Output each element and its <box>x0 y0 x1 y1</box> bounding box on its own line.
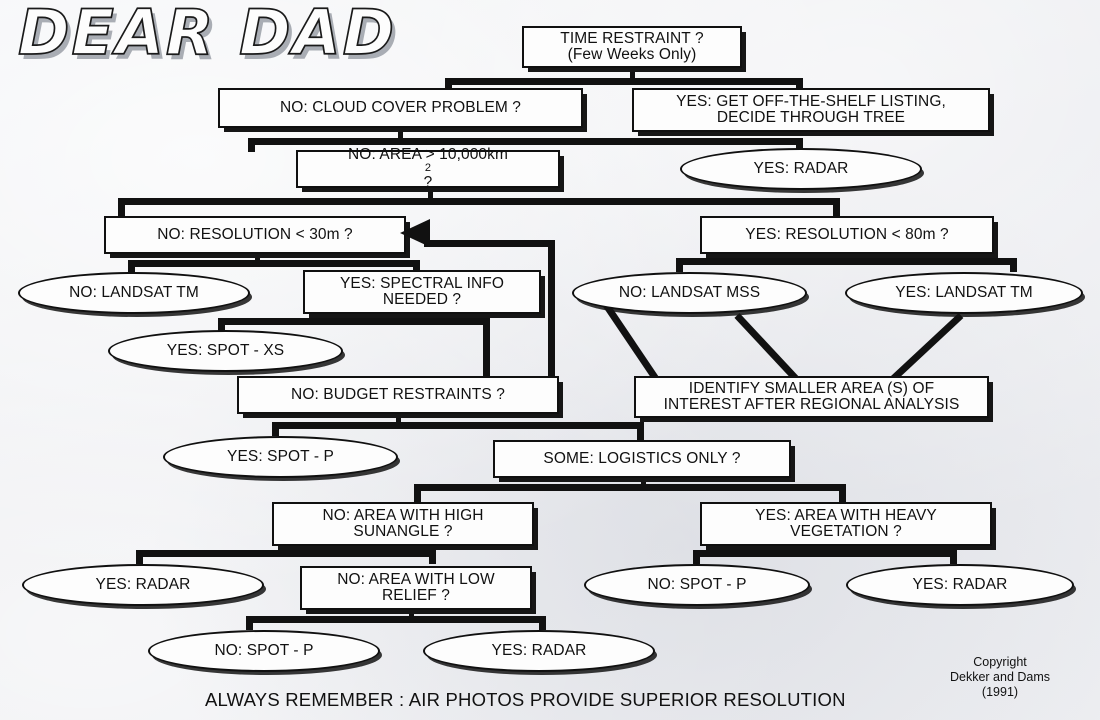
node-cloud-cover-label: NO: CLOUD COVER PROBLEM ? <box>274 100 527 116</box>
connector-rail <box>128 260 420 267</box>
connector-drop-right <box>637 422 644 440</box>
connector-rail <box>445 78 803 85</box>
node-budget-restraints[interactable]: NO: BUDGET RESTRAINTS ? <box>237 376 559 414</box>
node-heavy-vegetation-line1: YES: AREA WITH HEAVY <box>749 508 943 524</box>
node-time-restraint-line2: (Few Weeks Only) <box>554 47 709 63</box>
node-yes-landsat-tm-right-label: YES: LANDSAT TM <box>889 285 1039 301</box>
node-yes-radar-sunangle-label: YES: RADAR <box>90 577 197 593</box>
node-time-restraint[interactable]: TIME RESTRAINT ? (Few Weeks Only) <box>522 26 742 68</box>
node-no-spot-p-relief[interactable]: NO: SPOT - P <box>148 630 380 672</box>
connector-drop-left <box>248 138 255 152</box>
connector-drop-left <box>136 550 143 564</box>
node-heavy-vegetation-line2: VEGETATION ? <box>749 524 943 540</box>
copyright-line-3: (1991) <box>940 685 1060 700</box>
connector-rail <box>136 550 436 557</box>
node-yes-radar-area[interactable]: YES: RADAR <box>680 148 922 190</box>
connector-drop-right <box>429 550 436 564</box>
feedback-arrow-icon <box>400 218 434 248</box>
node-spectral-info-needed[interactable]: YES: SPECTRAL INFO NEEDED ? <box>303 270 541 314</box>
connector-drop-left <box>693 550 700 564</box>
node-resolution-30m-label: NO: RESOLUTION < 30m ? <box>151 227 359 243</box>
connector-drop-right <box>950 550 957 564</box>
node-area-label: NO: AREA > 10,000km2? <box>336 147 520 192</box>
node-no-landsat-mss[interactable]: NO: LANDSAT MSS <box>572 272 807 314</box>
node-area-heavy-vegetation[interactable]: YES: AREA WITH HEAVY VEGETATION ? <box>700 502 992 546</box>
connector-drop-right <box>483 318 490 376</box>
node-logistics-only[interactable]: SOME: LOGISTICS ONLY ? <box>493 440 791 478</box>
node-high-sunangle-line2: SUNANGLE ? <box>316 524 489 540</box>
connector-drop-left <box>272 422 279 436</box>
node-no-landsat-tm-left-label: NO: LANDSAT TM <box>63 285 205 301</box>
connector-drop-right <box>833 198 840 216</box>
connector-rail <box>693 550 957 557</box>
connector-feedback-horizontal <box>424 240 555 247</box>
node-identify-smaller-area[interactable]: IDENTIFY SMALLER AREA (S) OF INTEREST AF… <box>634 376 989 418</box>
node-off-the-shelf-listing[interactable]: YES: GET OFF-THE-SHELF LISTING, DECIDE T… <box>632 88 990 132</box>
node-yes-landsat-tm-right[interactable]: YES: LANDSAT TM <box>845 272 1083 314</box>
node-no-spot-p-vegetation-label: NO: SPOT - P <box>641 577 752 593</box>
connector-rail <box>248 138 803 145</box>
node-identify-line2: INTEREST AFTER REGIONAL ANALYSIS <box>658 397 966 413</box>
node-low-relief-line1: NO: AREA WITH LOW <box>331 572 501 588</box>
connector-rail <box>676 258 1017 265</box>
connector-rail <box>246 616 546 623</box>
node-time-restraint-line1: TIME RESTRAINT ? <box>554 31 709 47</box>
node-budget-restraints-label: NO: BUDGET RESTRAINTS ? <box>285 387 511 403</box>
node-off-the-shelf-line1: YES: GET OFF-THE-SHELF LISTING, <box>670 94 952 110</box>
copyright-block: Copyright Dekker and Dams (1991) <box>940 655 1060 699</box>
page-title: DEAR DAD <box>18 2 396 64</box>
node-yes-radar-vegetation[interactable]: YES: RADAR <box>846 564 1074 606</box>
node-no-spot-p-relief-label: NO: SPOT - P <box>208 643 319 659</box>
connector-feedback-vertical <box>548 240 555 378</box>
node-cloud-cover-problem[interactable]: NO: CLOUD COVER PROBLEM ? <box>218 88 583 128</box>
node-no-landsat-tm-left[interactable]: NO: LANDSAT TM <box>18 272 250 314</box>
copyright-line-2: Dekker and Dams <box>940 670 1060 685</box>
connector-rail <box>272 422 644 429</box>
flowchart-canvas: DEAR DAD <box>0 0 1100 720</box>
node-yes-radar-area-label: YES: RADAR <box>748 161 855 177</box>
connector-rail <box>414 484 846 491</box>
node-yes-radar-sunangle[interactable]: YES: RADAR <box>22 564 264 606</box>
node-yes-spot-xs-label: YES: SPOT - XS <box>161 343 290 359</box>
node-yes-radar-relief-label: YES: RADAR <box>486 643 593 659</box>
connector-drop-left <box>246 616 253 630</box>
node-low-relief-line2: RELIEF ? <box>331 588 501 604</box>
connector-drop-left <box>118 198 125 216</box>
node-spectral-info-line2: NEEDED ? <box>334 292 510 308</box>
connector-drop-left <box>676 258 683 272</box>
copyright-line-1: Copyright <box>940 655 1060 670</box>
node-spectral-info-line1: YES: SPECTRAL INFO <box>334 276 510 292</box>
connector-rail <box>218 318 490 325</box>
node-area-high-sunangle[interactable]: NO: AREA WITH HIGH SUNANGLE ? <box>272 502 534 546</box>
node-area-greater-10000km2[interactable]: NO: AREA > 10,000km2? <box>296 150 560 188</box>
connector-drop-right <box>1010 258 1017 272</box>
node-yes-spot-p-budget[interactable]: YES: SPOT - P <box>163 436 398 478</box>
node-yes-radar-relief[interactable]: YES: RADAR <box>423 630 655 672</box>
connector-rail <box>118 198 840 205</box>
node-resolution-less-30m[interactable]: NO: RESOLUTION < 30m ? <box>104 216 406 254</box>
connector-drop-left <box>414 484 421 502</box>
node-area-low-relief[interactable]: NO: AREA WITH LOW RELIEF ? <box>300 566 532 610</box>
node-yes-spot-p-budget-label: YES: SPOT - P <box>221 449 340 465</box>
node-identify-line1: IDENTIFY SMALLER AREA (S) OF <box>658 381 966 397</box>
connector-drop-right <box>539 616 546 630</box>
node-yes-radar-vegetation-label: YES: RADAR <box>907 577 1014 593</box>
footer-caption: ALWAYS REMEMBER : AIR PHOTOS PROVIDE SUP… <box>205 689 846 711</box>
node-resolution-less-80m[interactable]: YES: RESOLUTION < 80m ? <box>700 216 994 254</box>
connector-drop-right <box>839 484 846 502</box>
node-logistics-only-label: SOME: LOGISTICS ONLY ? <box>537 451 746 467</box>
node-off-the-shelf-line2: DECIDE THROUGH TREE <box>670 110 952 126</box>
node-yes-spot-xs[interactable]: YES: SPOT - XS <box>108 330 343 372</box>
node-high-sunangle-line1: NO: AREA WITH HIGH <box>316 508 489 524</box>
node-no-landsat-mss-label: NO: LANDSAT MSS <box>613 285 766 301</box>
node-no-spot-p-vegetation[interactable]: NO: SPOT - P <box>584 564 810 606</box>
node-resolution-80m-label: YES: RESOLUTION < 80m ? <box>739 227 954 243</box>
